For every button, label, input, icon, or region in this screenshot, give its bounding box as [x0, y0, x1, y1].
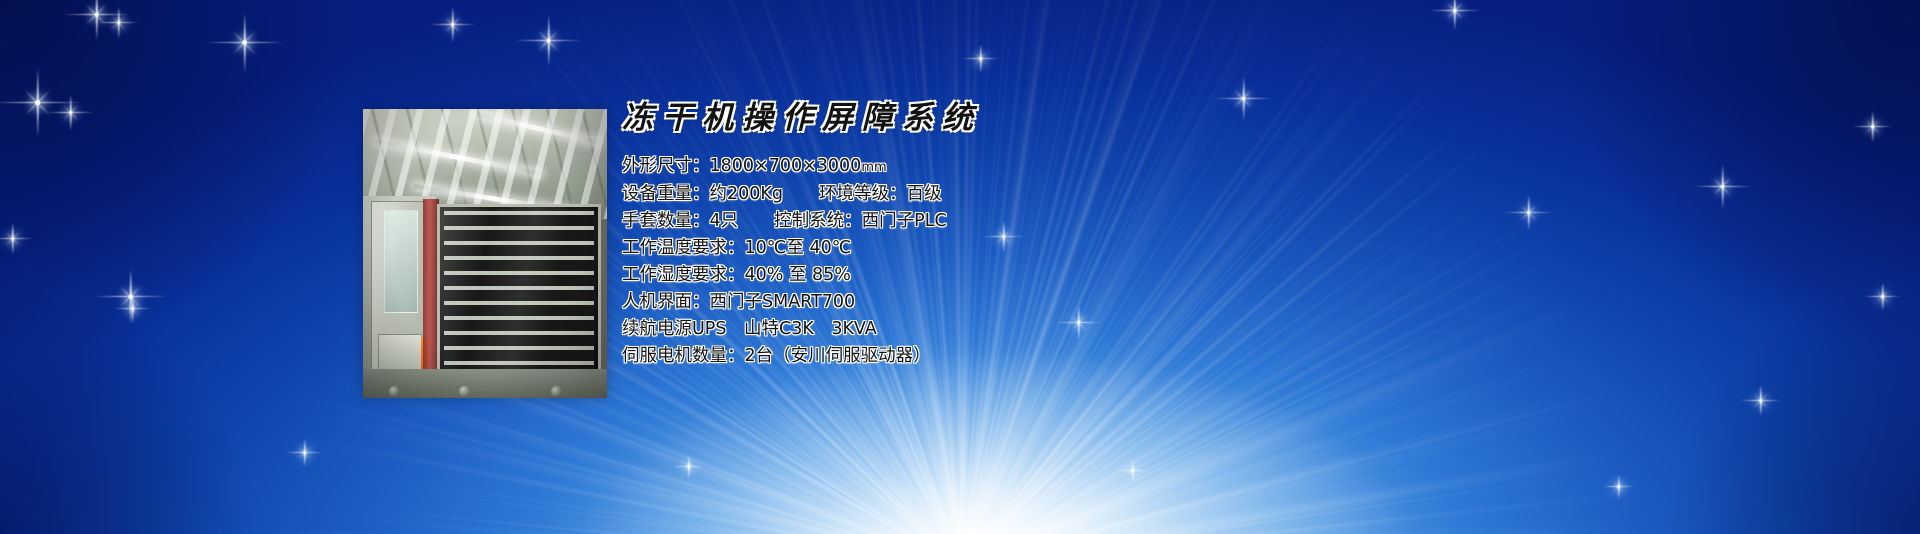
spec-label-secondary: 环境等级：: [819, 184, 907, 204]
spec-label: 设备重量：: [622, 184, 710, 204]
spec-value: 40% 至 85%: [745, 265, 851, 285]
product-banner: 冻干机操作屏障系统 外形尺寸：1800×700×3000mm设备重量：约200K…: [0, 0, 1920, 534]
spec-label: 续航电源UPS: [622, 319, 726, 339]
spec-line-temperature: 工作温度要求：10℃至 40℃: [622, 235, 1622, 262]
product-photo: [363, 109, 607, 398]
spec-line-hmi: 人机界面：西门子SMART700: [622, 289, 1622, 316]
page-title: 冻干机操作屏障系统: [622, 100, 1622, 137]
photo-vignette: [363, 109, 607, 398]
spec-label: 手套数量：: [622, 211, 710, 231]
spec-value: 4只: [710, 211, 739, 231]
spec-line-ups: 续航电源UPS 山特C3K 3KVA: [622, 316, 1622, 343]
spec-value: 2台（安川伺服驱动器）: [745, 346, 931, 366]
spec-line-servo: 伺服电机数量：2台（安川伺服驱动器）: [622, 343, 1622, 370]
spec-line-dimensions: 外形尺寸：1800×700×3000mm: [622, 153, 1622, 181]
copy-block: 冻干机操作屏障系统 外形尺寸：1800×700×3000mm设备重量：约200K…: [622, 100, 1622, 370]
spec-value-secondary: 西门子PLC: [862, 211, 947, 231]
spec-value: 约200Kg: [710, 184, 784, 204]
spec-label: 工作湿度要求：: [622, 265, 745, 285]
spec-label: 伺服电机数量：: [622, 346, 745, 366]
spec-value: 西门子SMART700: [710, 292, 856, 312]
spec-label: 工作温度要求：: [622, 238, 745, 258]
spec-unit: mm: [861, 160, 886, 175]
spec-value: 山特C3K 3KVA: [726, 319, 876, 339]
spec-line-humidity: 工作湿度要求：40% 至 85%: [622, 262, 1622, 289]
spec-value: 1800×700×3000: [710, 156, 862, 176]
spec-value-secondary: 百级: [907, 184, 942, 204]
spec-label: 人机界面：: [622, 292, 710, 312]
spec-value: 10℃至 40℃: [745, 238, 852, 258]
spec-label: 外形尺寸：: [622, 156, 710, 176]
spec-list: 外形尺寸：1800×700×3000mm设备重量：约200Kg环境等级：百级手套…: [622, 153, 1622, 370]
spec-label-secondary: 控制系统：: [774, 211, 862, 231]
spec-line-gloves: 手套数量：4只控制系统：西门子PLC: [622, 208, 1622, 235]
spec-line-weight: 设备重量：约200Kg环境等级：百级: [622, 181, 1622, 208]
